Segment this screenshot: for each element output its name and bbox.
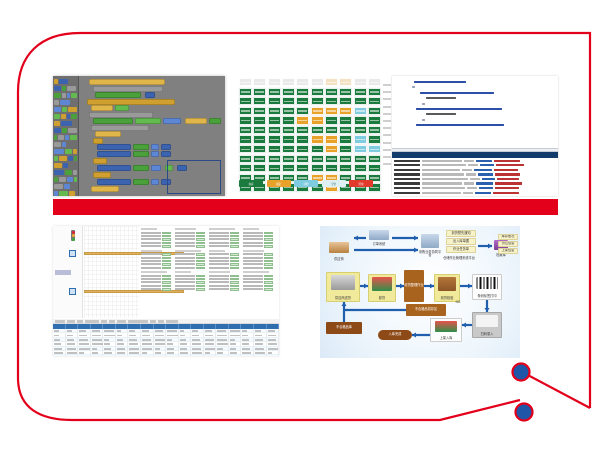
blockly-block[interactable] [93, 158, 107, 164]
table-cell[interactable] [204, 355, 217, 356]
table-cell[interactable] [53, 338, 66, 341]
warehouse-slot-cell[interactable] [268, 107, 281, 115]
warehouse-slot-cell[interactable] [282, 116, 295, 124]
warehouse-slot-cell[interactable] [239, 97, 252, 105]
blockly-block[interactable] [151, 165, 161, 171]
warehouse-slot-cell[interactable] [339, 155, 352, 163]
table-cell[interactable] [141, 351, 154, 354]
table-cell[interactable] [103, 329, 116, 332]
toolbar-button[interactable] [158, 320, 164, 323]
warehouse-slot-cell[interactable] [354, 135, 367, 143]
warehouse-slot-cell[interactable] [239, 164, 252, 172]
table-cell[interactable] [204, 347, 217, 350]
warehouse-slot-cell[interactable] [253, 116, 266, 124]
table-cell[interactable] [128, 333, 141, 336]
table-cell[interactable] [216, 333, 229, 336]
table-cell[interactable] [204, 329, 217, 332]
warehouse-slot-cell[interactable] [268, 78, 281, 86]
warehouse-slot-cell[interactable] [311, 97, 324, 105]
warehouse-slot-cell[interactable] [354, 116, 367, 124]
log-row[interactable] [394, 159, 556, 162]
table-cell[interactable] [241, 338, 254, 341]
warehouse-slot-cell[interactable] [268, 155, 281, 163]
blockly-canvas[interactable] [81, 76, 225, 196]
warehouse-slot-cell[interactable] [239, 155, 252, 163]
table-cell[interactable] [267, 355, 279, 356]
toolbar-button[interactable] [150, 320, 156, 323]
blockly-block[interactable] [95, 131, 121, 137]
schedule-card-column[interactable] [141, 228, 171, 293]
palette-block[interactable] [54, 114, 77, 120]
warehouse-slot-cell[interactable] [325, 135, 338, 143]
table-cell[interactable] [191, 333, 204, 336]
table-cell[interactable] [179, 351, 192, 354]
warehouse-slot-cell[interactable] [311, 155, 324, 163]
warehouse-slot-cell[interactable] [296, 145, 309, 153]
table-cell[interactable] [53, 351, 66, 354]
toolbar-button[interactable] [128, 320, 148, 323]
warehouse-slot-cell[interactable] [282, 135, 295, 143]
blockly-block[interactable] [93, 118, 133, 124]
warehouse-slot-cell[interactable] [282, 78, 295, 86]
warehouse-slot-cell[interactable] [311, 126, 324, 134]
table-cell[interactable] [116, 342, 129, 345]
warehouse-slot-cell[interactable] [311, 78, 324, 86]
table-cell[interactable] [241, 351, 254, 354]
warehouse-slot-cell[interactable] [354, 107, 367, 115]
table-cell[interactable] [128, 342, 141, 345]
table-cell[interactable] [91, 351, 104, 354]
table-cell[interactable] [78, 351, 91, 354]
warehouse-slot-cell[interactable] [239, 145, 252, 153]
schedule-card[interactable] [141, 228, 171, 248]
table-cell[interactable] [141, 355, 154, 356]
table-cell[interactable] [241, 333, 254, 336]
flow-node-notice-1[interactable]: 到货预先通知 [446, 230, 476, 237]
warehouse-slot-cell[interactable] [253, 126, 266, 134]
log-row[interactable] [394, 191, 556, 194]
table-cell[interactable] [267, 351, 279, 354]
table-cell[interactable] [103, 342, 116, 345]
table-cell[interactable] [128, 355, 141, 356]
table-cell[interactable] [241, 355, 254, 356]
schedule-card[interactable] [209, 228, 239, 248]
warehouse-slot-cell[interactable] [296, 155, 309, 163]
table-cell[interactable] [53, 333, 66, 336]
table-cell[interactable] [166, 329, 179, 332]
table-cell[interactable] [166, 347, 179, 350]
flow-node-side-2[interactable]: 货位信息 [498, 241, 518, 247]
flow-node-wms[interactable]: 仓储作业管理系统平台 [440, 254, 478, 263]
log-console[interactable] [392, 158, 558, 196]
warehouse-slot-cell[interactable] [296, 116, 309, 124]
log-row[interactable] [394, 182, 556, 185]
warehouse-slot-cell[interactable] [339, 97, 352, 105]
warehouse-slot-cell[interactable] [354, 155, 367, 163]
blockly-block[interactable] [209, 118, 221, 124]
toolbar-button[interactable] [55, 320, 65, 323]
table-cell[interactable] [216, 342, 229, 345]
table-cell[interactable] [204, 351, 217, 354]
table-cell[interactable] [91, 355, 104, 356]
warehouse-slot-cell[interactable] [368, 116, 381, 124]
table-cell[interactable] [229, 342, 242, 345]
table-cell[interactable] [53, 342, 66, 345]
flow-node-inbound-done[interactable]: 入库完成 [378, 330, 412, 340]
table-cell[interactable] [179, 342, 192, 345]
table-cell[interactable] [241, 347, 254, 350]
table-cell[interactable] [229, 329, 242, 332]
code-editor-panel[interactable] [392, 76, 558, 196]
log-row[interactable] [394, 186, 556, 189]
warehouse-slot-cell[interactable] [311, 107, 324, 115]
table-cell[interactable] [154, 355, 167, 356]
warehouse-slot-cell[interactable] [354, 97, 367, 105]
warehouse-slot-cell[interactable] [368, 155, 381, 163]
schedule-card[interactable] [243, 271, 273, 291]
table-body[interactable] [53, 329, 279, 356]
warehouse-slot-cell[interactable] [253, 78, 266, 86]
warehouse-slot-cell[interactable] [325, 88, 338, 96]
blockly-block[interactable] [145, 92, 155, 98]
palette-block[interactable] [54, 184, 77, 190]
table-cell[interactable] [141, 347, 154, 350]
gantt-node-end[interactable] [69, 288, 76, 295]
order-data-table[interactable] [53, 319, 279, 356]
flow-node-inspect[interactable]: 到货检验 [434, 274, 460, 302]
table-cell[interactable] [128, 347, 141, 350]
schedule-card-column[interactable] [175, 228, 205, 293]
warehouse-slot-cell[interactable] [282, 88, 295, 96]
table-cell[interactable] [141, 338, 154, 341]
table-cell[interactable] [53, 355, 66, 356]
warehouse-slot-cell[interactable] [268, 126, 281, 134]
warehouse-slot-cell[interactable] [368, 145, 381, 153]
table-cell[interactable] [103, 338, 116, 341]
table-cell[interactable] [191, 347, 204, 350]
flow-node-unload[interactable]: 卸货 [368, 274, 396, 302]
log-row[interactable] [394, 164, 556, 167]
table-cell[interactable] [241, 342, 254, 345]
table-cell[interactable] [216, 338, 229, 341]
table-cell[interactable] [154, 351, 167, 354]
schedule-card[interactable] [141, 250, 171, 270]
warehouse-slot-cell[interactable] [296, 88, 309, 96]
table-cell[interactable] [66, 347, 79, 350]
palette-block[interactable] [54, 170, 77, 176]
table-cell[interactable] [78, 347, 91, 350]
flow-node-delivery[interactable]: 供应商送货 [326, 272, 360, 302]
table-cell[interactable] [254, 338, 267, 341]
palette-block[interactable] [54, 163, 77, 169]
table-cell[interactable] [229, 355, 242, 356]
table-cell[interactable] [166, 333, 179, 336]
palette-block[interactable] [54, 135, 77, 141]
table-cell[interactable] [78, 329, 91, 332]
logistics-flowchart-panel[interactable]: 供应商订单系统采购业务协同平台到货预先通知出入库单据作业任务单仓储作业管理系统平… [320, 226, 520, 358]
table-cell[interactable] [91, 342, 104, 345]
table-cell[interactable] [66, 355, 79, 356]
palette-block[interactable] [54, 107, 77, 113]
warehouse-slot-cell[interactable] [282, 164, 295, 172]
warehouse-slot-cell[interactable] [311, 164, 324, 172]
table-cell[interactable] [91, 329, 104, 332]
table-cell[interactable] [66, 342, 79, 345]
table-cell[interactable] [254, 351, 267, 354]
schedule-card[interactable] [175, 228, 205, 248]
table-cell[interactable] [229, 338, 242, 341]
table-cell[interactable] [53, 347, 66, 350]
table-cell[interactable] [91, 338, 104, 341]
toolbar-button[interactable] [67, 320, 75, 323]
warehouse-slot-cell[interactable] [354, 88, 367, 96]
warehouse-slot-cell[interactable] [339, 107, 352, 115]
warehouse-slot-cell[interactable] [282, 97, 295, 105]
table-cell[interactable] [267, 338, 279, 341]
blockly-editor-panel[interactable] [53, 76, 225, 196]
table-cell[interactable] [191, 351, 204, 354]
warehouse-slot-cell[interactable] [268, 116, 281, 124]
warehouse-slot-cell[interactable] [325, 78, 338, 86]
palette-block[interactable] [54, 142, 77, 148]
warehouse-slot-cell[interactable] [239, 88, 252, 96]
table-cell[interactable] [141, 333, 154, 336]
schedule-card[interactable] [175, 271, 205, 291]
table-cell[interactable] [91, 333, 104, 336]
warehouse-slot-cell[interactable] [354, 78, 367, 86]
table-cell[interactable] [229, 351, 242, 354]
warehouse-slot-cell[interactable] [311, 145, 324, 153]
blockly-block[interactable] [151, 144, 159, 150]
warehouse-slot-cell[interactable] [325, 126, 338, 134]
blockly-block[interactable] [133, 165, 149, 171]
palette-block[interactable] [54, 128, 77, 134]
blockly-block[interactable] [97, 151, 131, 157]
table-row[interactable] [53, 355, 279, 356]
table-cell[interactable] [241, 329, 254, 332]
flow-node-receiving[interactable]: 收货整理作业 [404, 270, 424, 302]
table-cell[interactable] [128, 338, 141, 341]
warehouse-slot-cell[interactable] [296, 164, 309, 172]
table-cell[interactable] [179, 333, 192, 336]
blockly-block[interactable] [151, 179, 159, 185]
warehouse-slot-cell[interactable] [296, 107, 309, 115]
palette-block[interactable] [54, 177, 77, 183]
table-cell[interactable] [154, 342, 167, 345]
flow-node-notice-3[interactable]: 作业任务单 [446, 246, 476, 253]
gantt-node-start[interactable] [69, 250, 76, 257]
table-cell[interactable] [116, 329, 129, 332]
table-cell[interactable] [254, 333, 267, 336]
schedule-card[interactable] [175, 250, 205, 270]
flow-node-label-print[interactable]: 条码标签打印 [472, 274, 502, 300]
table-cell[interactable] [66, 329, 79, 332]
table-cell[interactable] [179, 347, 192, 350]
warehouse-slot-cell[interactable] [268, 97, 281, 105]
table-cell[interactable] [116, 333, 129, 336]
table-cell[interactable] [141, 329, 154, 332]
palette-block[interactable] [54, 121, 77, 127]
table-cell[interactable] [154, 329, 167, 332]
flow-node-side-1[interactable]: 库存账况 [498, 234, 518, 240]
table-cell[interactable] [66, 333, 79, 336]
table-cell[interactable] [191, 342, 204, 345]
table-cell[interactable] [166, 342, 179, 345]
table-cell[interactable] [154, 333, 167, 336]
warehouse-slot-cell[interactable] [339, 88, 352, 96]
warehouse-slot-cell[interactable] [282, 155, 295, 163]
warehouse-slot-cell[interactable] [368, 88, 381, 96]
warehouse-slot-cell[interactable] [354, 145, 367, 153]
log-row[interactable] [394, 173, 556, 176]
table-cell[interactable] [254, 342, 267, 345]
flow-node-side-3[interactable]: 上架信息 [498, 248, 518, 254]
table-cell[interactable] [78, 355, 91, 356]
schedule-card[interactable] [243, 250, 273, 270]
table-cell[interactable] [66, 351, 79, 354]
warehouse-slot-cell[interactable] [239, 78, 252, 86]
warehouse-slot-cell[interactable] [239, 126, 252, 134]
blockly-block[interactable] [151, 151, 159, 157]
table-cell[interactable] [154, 338, 167, 341]
table-cell[interactable] [191, 329, 204, 332]
blockly-palette[interactable] [53, 76, 79, 196]
blockly-block[interactable] [135, 118, 161, 124]
palette-block[interactable] [54, 156, 77, 162]
warehouse-slot-cell[interactable] [311, 116, 324, 124]
warehouse-slot-cell[interactable] [253, 135, 266, 143]
warehouse-slot-cell[interactable] [339, 145, 352, 153]
toolbar-button[interactable] [109, 320, 115, 323]
warehouse-slot-cell[interactable] [311, 88, 324, 96]
palette-block[interactable] [54, 79, 77, 85]
table-cell[interactable] [267, 342, 279, 345]
warehouse-slot-cell[interactable] [368, 164, 381, 172]
table-cell[interactable] [166, 338, 179, 341]
table-cell[interactable] [267, 347, 279, 350]
table-cell[interactable] [179, 338, 192, 341]
schedule-card-area[interactable] [141, 228, 277, 318]
flow-node-ng-mark[interactable]: NG [453, 300, 463, 306]
blockly-block[interactable] [97, 179, 131, 185]
toolbar-button[interactable] [166, 320, 178, 323]
warehouse-slot-cell[interactable] [368, 135, 381, 143]
palette-block[interactable] [54, 86, 77, 92]
table-cell[interactable] [78, 333, 91, 336]
warehouse-slot-cell[interactable] [296, 126, 309, 134]
table-cell[interactable] [91, 347, 104, 350]
warehouse-slot-cell[interactable] [325, 116, 338, 124]
table-cell[interactable] [191, 338, 204, 341]
palette-block[interactable] [54, 100, 77, 106]
table-cell[interactable] [267, 333, 279, 336]
warehouse-slot-cell[interactable] [253, 164, 266, 172]
table-cell[interactable] [78, 342, 91, 345]
warehouse-slot-cell[interactable] [368, 78, 381, 86]
warehouse-slot-cell[interactable] [368, 126, 381, 134]
toolbar-button[interactable] [101, 320, 107, 323]
flow-node-scan-in[interactable]: 扫码录入 [472, 312, 502, 338]
schedule-card[interactable] [141, 271, 171, 291]
flow-node-notice-2[interactable]: 出入库单据 [446, 238, 476, 245]
schedule-sheet-panel[interactable] [53, 226, 279, 356]
warehouse-slot-cell[interactable] [368, 107, 381, 115]
table-cell[interactable] [229, 347, 242, 350]
code-editor-area[interactable] [392, 76, 558, 148]
warehouse-slot-cell[interactable] [354, 164, 367, 172]
blockly-block[interactable] [163, 118, 181, 124]
table-cell[interactable] [53, 329, 66, 332]
warehouse-slot-cell[interactable] [239, 135, 252, 143]
warehouse-slot-cell[interactable] [253, 145, 266, 153]
table-cell[interactable] [103, 333, 116, 336]
flow-node-order-system[interactable]: 订单系统 [366, 229, 392, 247]
warehouse-slot-cell[interactable] [339, 135, 352, 143]
warehouse-slot-cell[interactable] [339, 164, 352, 172]
table-cell[interactable] [166, 355, 179, 356]
table-cell[interactable] [116, 355, 129, 356]
table-cell[interactable] [254, 355, 267, 356]
palette-block[interactable] [54, 93, 77, 99]
warehouse-slot-cell[interactable] [296, 135, 309, 143]
warehouse-slot-cell[interactable] [339, 78, 352, 86]
warehouse-slot-cell[interactable] [268, 88, 281, 96]
toolbar-button[interactable] [77, 320, 83, 323]
toolbar-button[interactable] [117, 320, 126, 323]
warehouse-slot-cell[interactable] [268, 164, 281, 172]
warehouse-slot-cell[interactable] [239, 116, 252, 124]
table-cell[interactable] [216, 329, 229, 332]
warehouse-grid-panel[interactable]: 在库锁定待检空位异常 [237, 76, 392, 196]
gantt-timeline-grid[interactable] [84, 226, 139, 318]
table-cell[interactable] [216, 355, 229, 356]
blockly-block[interactable] [161, 151, 171, 157]
table-cell[interactable] [229, 333, 242, 336]
table-cell[interactable] [116, 351, 129, 354]
table-cell[interactable] [141, 342, 154, 345]
schedule-card[interactable] [243, 228, 273, 248]
blockly-block[interactable] [161, 144, 171, 150]
schedule-card[interactable] [209, 271, 239, 291]
blockly-block[interactable] [97, 165, 131, 171]
warehouse-slot-cell[interactable] [325, 107, 338, 115]
table-cell[interactable] [154, 347, 167, 350]
flow-node-putaway[interactable]: 上架入库 [430, 318, 462, 342]
warehouse-slot-cell[interactable] [296, 97, 309, 105]
table-cell[interactable] [204, 342, 217, 345]
warehouse-slot-cell[interactable] [268, 145, 281, 153]
warehouse-slot-cell[interactable] [311, 135, 324, 143]
table-cell[interactable] [204, 338, 217, 341]
warehouse-slot-cell[interactable] [282, 107, 295, 115]
table-cell[interactable] [204, 333, 217, 336]
warehouse-slot-cell[interactable] [339, 126, 352, 134]
palette-block[interactable] [54, 191, 77, 196]
table-cell[interactable] [128, 351, 141, 354]
warehouse-slot-cell[interactable] [253, 107, 266, 115]
blockly-block[interactable] [89, 79, 165, 85]
table-cell[interactable] [216, 351, 229, 354]
table-cell[interactable] [103, 347, 116, 350]
warehouse-slot-cell[interactable] [253, 155, 266, 163]
table-cell[interactable] [78, 338, 91, 341]
blockly-block[interactable] [115, 105, 129, 111]
table-cell[interactable] [179, 355, 192, 356]
table-cell[interactable] [166, 351, 179, 354]
flow-node-reject-zone[interactable]: 不合格品暂存区 [406, 304, 446, 316]
warehouse-slot-cell[interactable] [239, 107, 252, 115]
table-cell[interactable] [116, 338, 129, 341]
